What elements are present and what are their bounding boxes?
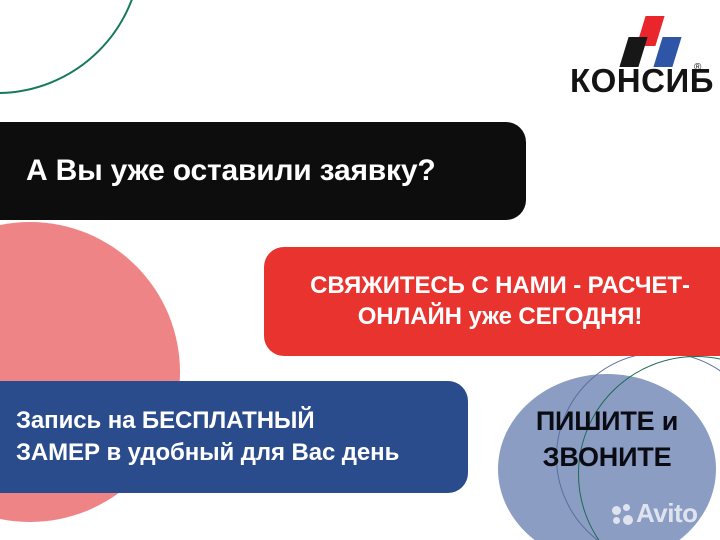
avito-dot-icon [613, 517, 620, 524]
booking-banner: Запись на БЕСПЛАТНЫЙ ЗАМЕР в удобный для… [0, 381, 468, 493]
ad-banner-canvas: КОНСИБ ® А Вы уже оставили заявку? СВЯЖИ… [0, 0, 720, 540]
avito-watermark: Avito [612, 500, 718, 530]
registered-trademark-icon: ® [694, 62, 701, 73]
contact-banner: СВЯЖИТЕСЬ С НАМИ - РАСЧЕТ- ОНЛАЙН уже СЕ… [264, 247, 720, 356]
contact-banner-text: СВЯЖИТЕСЬ С НАМИ - РАСЧЕТ- ОНЛАЙН уже СЕ… [286, 271, 714, 332]
green-ring-decoration-top [0, 0, 142, 94]
avito-dot-icon [612, 506, 621, 515]
logo-mark-icon [614, 16, 688, 66]
brand-logo: КОНСИБ ® [570, 16, 708, 102]
avito-dot-icon [623, 515, 633, 525]
avito-wordmark: Avito [636, 500, 698, 526]
avito-dots-icon [612, 504, 636, 526]
avito-dot-icon [623, 504, 630, 511]
logo-wordmark: КОНСИБ [570, 64, 714, 97]
question-banner: А Вы уже оставили заявку? [0, 122, 526, 220]
circle-cta-text: ПИШИТЕ и ЗВОНИТЕ [494, 404, 720, 475]
booking-banner-text: Запись на БЕСПЛАТНЫЙ ЗАМЕР в удобный для… [16, 405, 399, 470]
question-banner-text: А Вы уже оставили заявку? [26, 154, 435, 188]
